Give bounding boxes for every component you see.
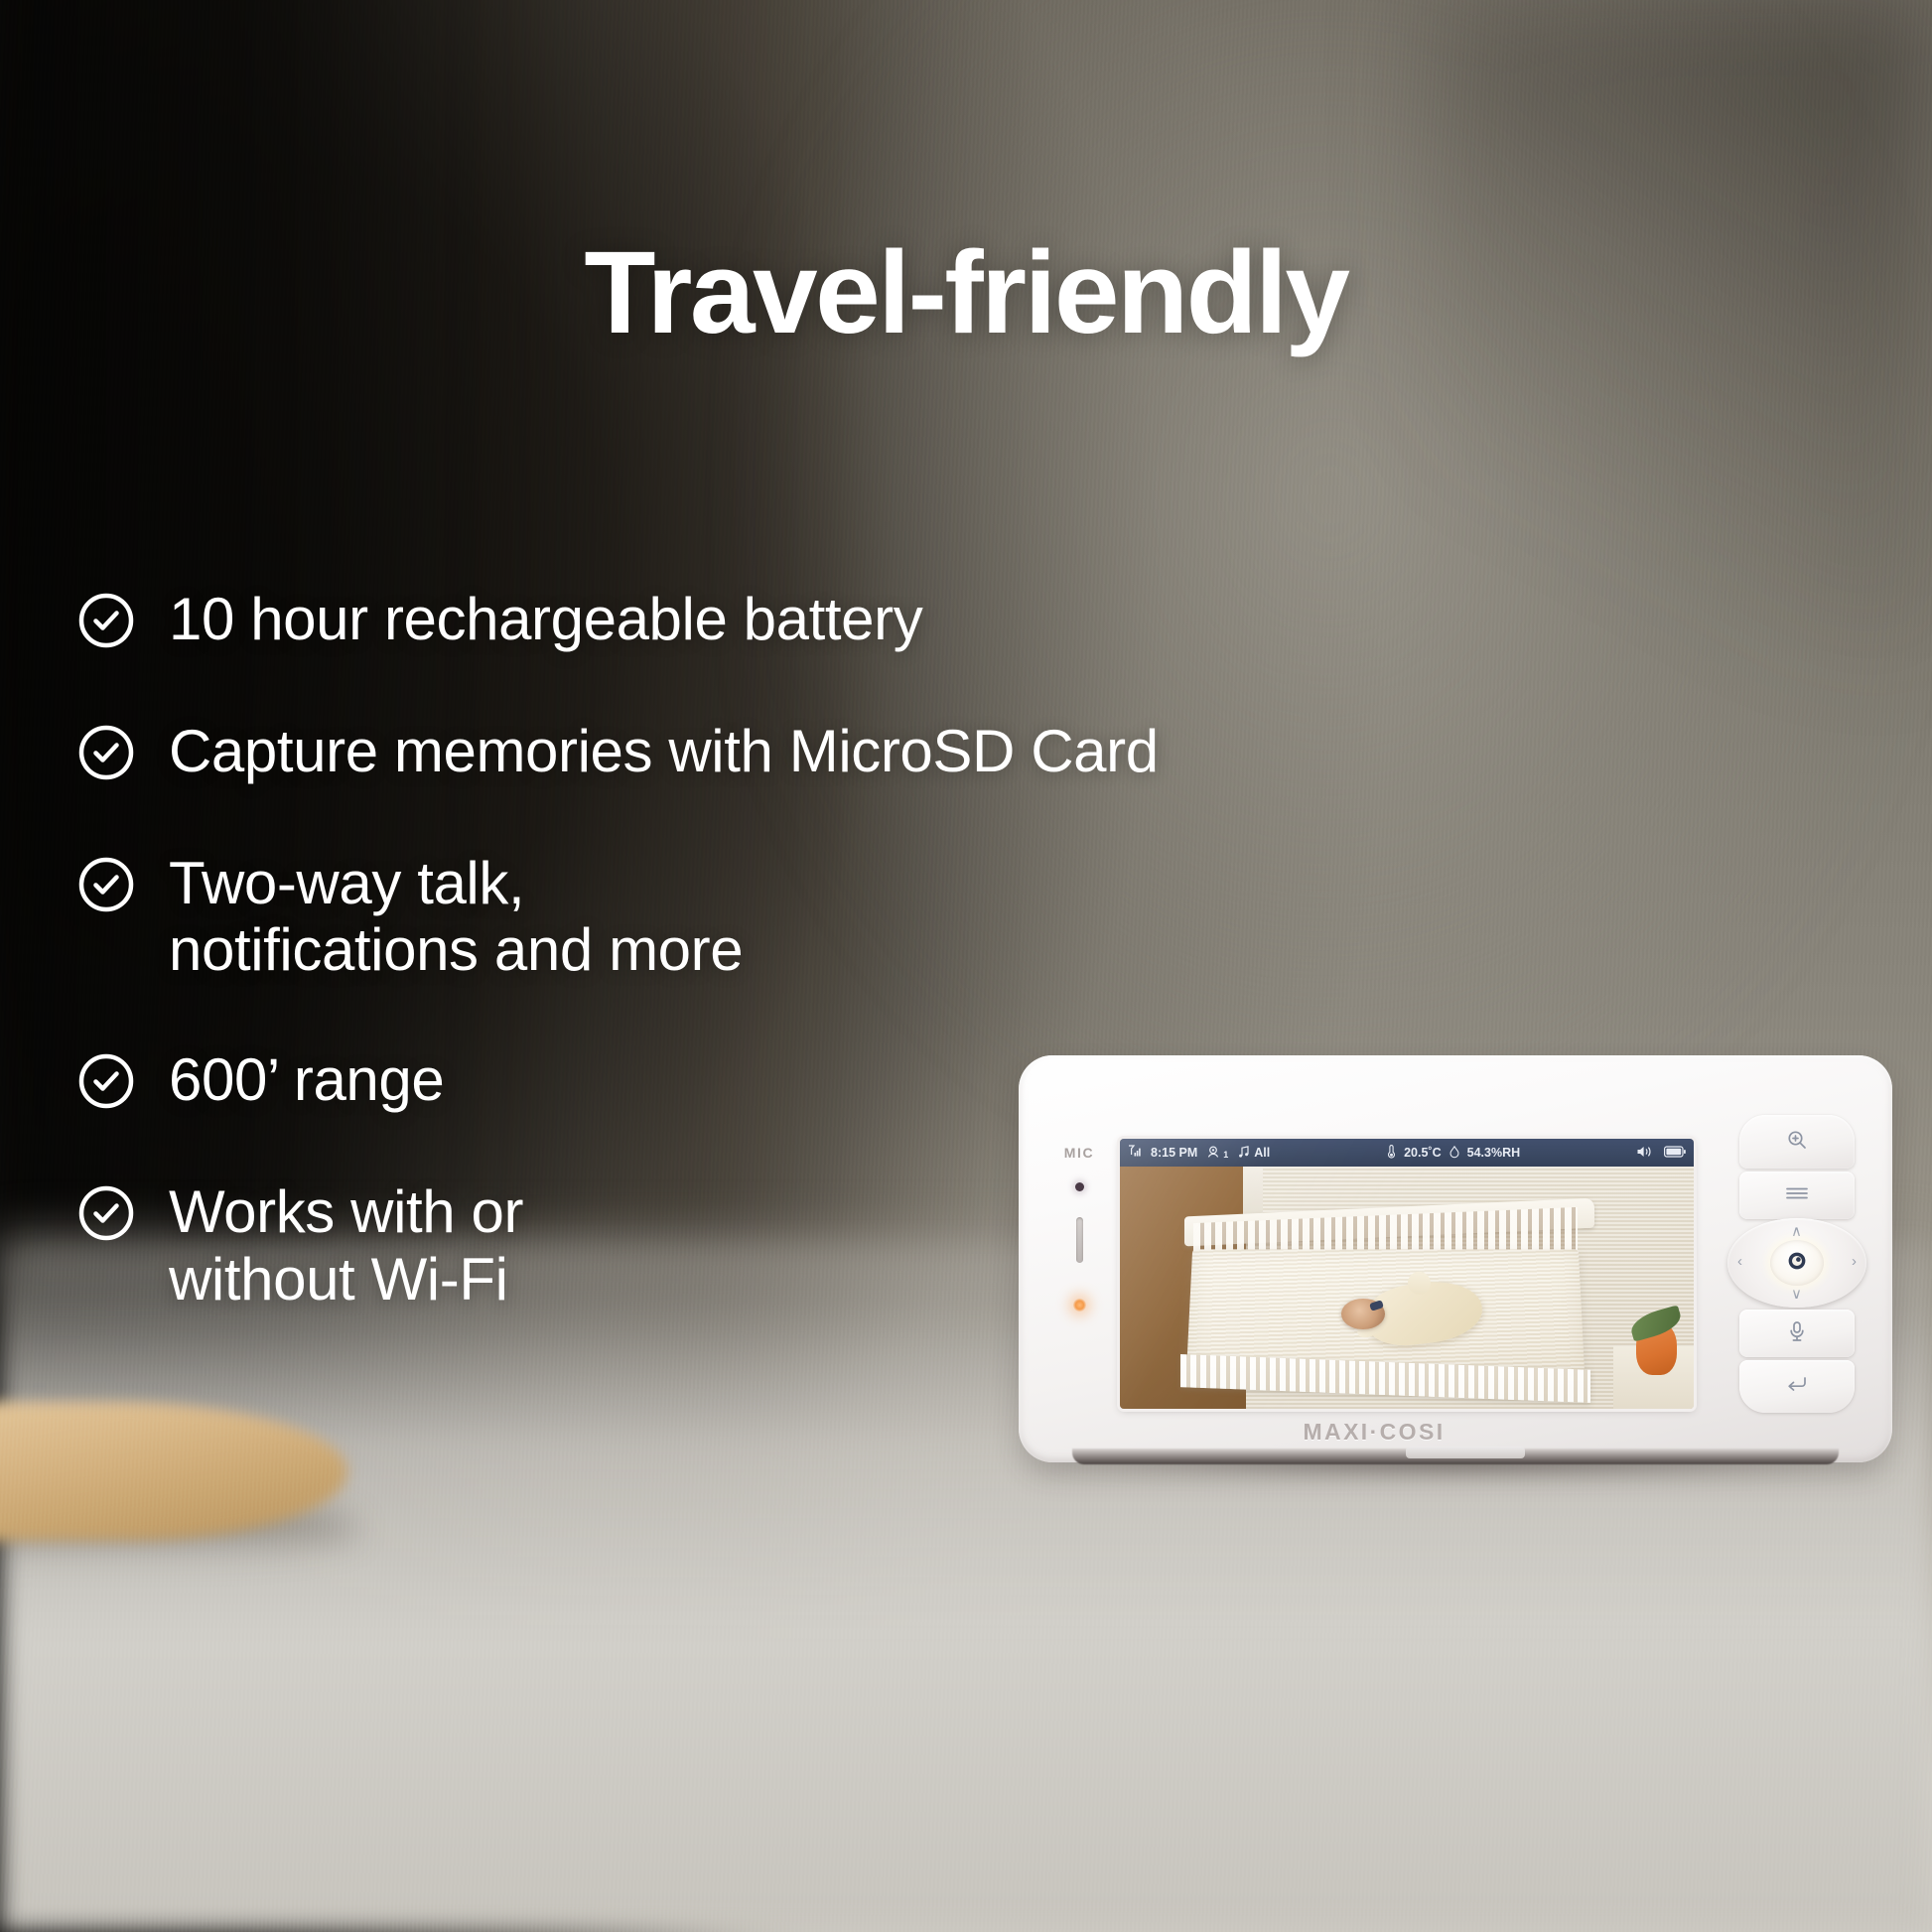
signal-bars-icon <box>1128 1145 1142 1161</box>
camera-count: 1 <box>1223 1150 1228 1162</box>
music-mode-value: All <box>1254 1146 1270 1160</box>
menu-icon <box>1784 1184 1810 1207</box>
humidity-value: 54.3%RH <box>1467 1146 1521 1160</box>
mic-hole-icon <box>1075 1182 1084 1191</box>
speaker-volume-icon <box>1636 1145 1653 1162</box>
brand-logo: MAXI·COSI <box>1019 1419 1729 1446</box>
status-led-indicator <box>1073 1299 1086 1311</box>
chevron-right-icon[interactable]: › <box>1852 1254 1857 1269</box>
camera-icon <box>1206 1145 1220 1162</box>
back-button[interactable] <box>1739 1360 1855 1413</box>
temperature-value: 20.5˚C <box>1404 1146 1442 1160</box>
power-eye-icon <box>1786 1250 1808 1277</box>
feature-label: 600’ range <box>169 1046 444 1113</box>
device-stand-tab <box>1406 1447 1525 1458</box>
dpad[interactable]: ∧ ∨ ‹ › <box>1727 1218 1866 1308</box>
return-arrow-icon <box>1784 1374 1810 1399</box>
zoom-in-button[interactable] <box>1739 1115 1855 1169</box>
check-circle-icon <box>77 1052 135 1115</box>
ok-button[interactable] <box>1770 1240 1824 1286</box>
music-note-icon <box>1237 1145 1251 1162</box>
chevron-down-icon[interactable]: ∨ <box>1791 1287 1802 1302</box>
check-circle-icon <box>77 592 135 654</box>
feature-label: 10 hour rechargeable battery <box>169 586 922 652</box>
side-slot[interactable] <box>1076 1217 1083 1263</box>
crib <box>1172 1207 1607 1391</box>
feature-item-two-way-talk: Two-way talk, notifications and more <box>77 850 1318 983</box>
feature-label: Two-way talk, notifications and more <box>169 850 743 983</box>
screen-status-bar: 8:15 PM 1 All <box>1120 1139 1694 1167</box>
feature-item-battery: 10 hour rechargeable battery <box>77 586 1318 654</box>
status-time: 8:15 PM <box>1151 1146 1197 1160</box>
control-panel: ∧ ∨ ‹ › <box>1724 1115 1870 1413</box>
page-title: Travel-friendly <box>0 234 1932 351</box>
thermometer-icon <box>1386 1144 1397 1162</box>
zoom-in-icon <box>1785 1128 1809 1157</box>
battery-full-icon <box>1664 1146 1686 1161</box>
microphone-icon <box>1786 1319 1808 1348</box>
baby-monitor-device: MIC <box>1019 1055 1892 1462</box>
feature-item-microsd: Capture memories with MicroSD Card <box>77 718 1318 786</box>
check-circle-icon <box>77 856 135 918</box>
humidity-drop-icon <box>1449 1145 1460 1162</box>
menu-button[interactable] <box>1739 1172 1855 1219</box>
chevron-left-icon[interactable]: ‹ <box>1737 1254 1742 1269</box>
feature-label: Works with or without Wi-Fi <box>169 1178 523 1311</box>
chevron-up-icon[interactable]: ∧ <box>1791 1224 1802 1239</box>
talk-button[interactable] <box>1739 1310 1855 1357</box>
baby <box>1341 1282 1485 1348</box>
mic-column: MIC <box>1044 1145 1114 1311</box>
mic-label: MIC <box>1044 1145 1114 1161</box>
check-circle-icon <box>77 1184 135 1247</box>
device-screen[interactable]: 8:15 PM 1 All <box>1120 1139 1694 1409</box>
check-circle-icon <box>77 724 135 786</box>
camera-feed <box>1120 1167 1694 1409</box>
feature-label: Capture memories with MicroSD Card <box>169 718 1159 784</box>
